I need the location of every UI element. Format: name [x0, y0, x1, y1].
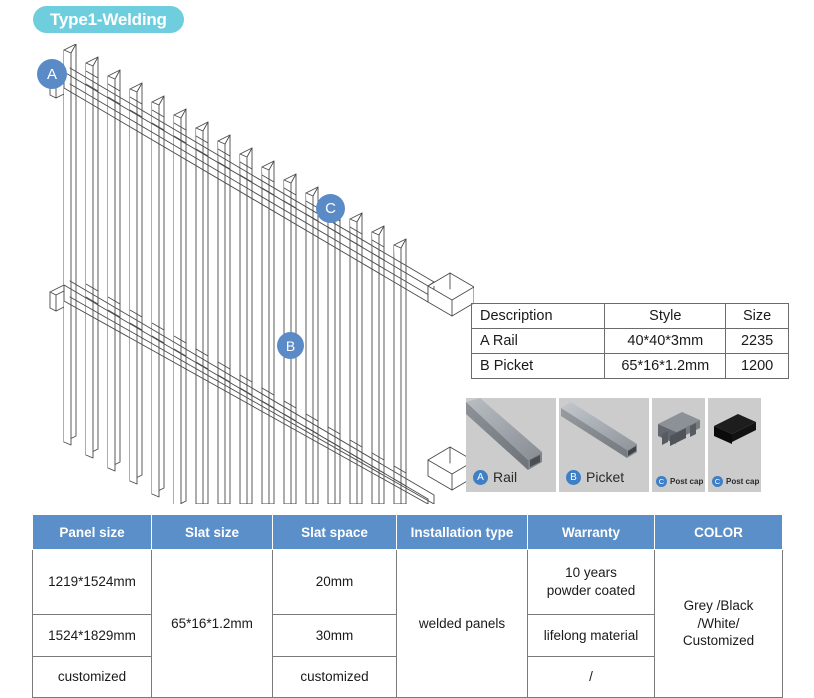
- spec-header-description: Description: [472, 304, 605, 329]
- spec-cell-style: 65*16*1.2mm: [605, 354, 726, 379]
- cell-warranty-3: /: [528, 657, 655, 698]
- thumbnail-post-cap-grey: C Post cap: [652, 398, 705, 492]
- col-header-slat-space: Slat space: [273, 515, 397, 550]
- rail-end-top: [428, 273, 474, 316]
- picket-9: [240, 148, 252, 504]
- col-header-installation-type: Installation type: [397, 515, 528, 550]
- fence-panel-isometric-svg: [24, 44, 474, 504]
- callout-badge-c: C: [316, 194, 345, 223]
- picket-12: [306, 187, 318, 504]
- thumbnail-label: Post cap: [726, 477, 759, 486]
- cell-slat-space-3: customized: [273, 657, 397, 698]
- picket-4: [130, 83, 142, 484]
- picket-3: [108, 70, 120, 471]
- page-title: Type1-Welding: [33, 6, 184, 33]
- fence-panel-diagram: [24, 44, 474, 504]
- cell-panel-size-3: customized: [33, 657, 152, 698]
- mini-badge-c: C: [712, 476, 723, 487]
- thumbnail-label: Picket: [586, 469, 624, 485]
- mini-badge-c: C: [656, 476, 667, 487]
- thumbnail-label: Post cap: [670, 477, 703, 486]
- picket-5: [152, 96, 164, 497]
- product-options-table: Panel size Slat size Slat space Installa…: [32, 514, 783, 698]
- col-header-warranty: Warranty: [528, 515, 655, 550]
- spec-cell-size: 2235: [726, 329, 789, 354]
- thumbnail-picket: B Picket: [559, 398, 649, 492]
- spec-header-style: Style: [605, 304, 726, 329]
- cell-installation-type: welded panels: [397, 550, 528, 698]
- component-photo-strip: A Rail B Picket: [466, 398, 791, 492]
- spec-cell-style: 40*40*3mm: [605, 329, 726, 354]
- callout-badge-b: B: [277, 332, 304, 359]
- col-header-panel-size: Panel size: [33, 515, 152, 550]
- picket-13: [328, 200, 340, 504]
- picket-8: [218, 135, 230, 504]
- options-header-row: Panel size Slat size Slat space Installa…: [33, 515, 783, 550]
- picket-1: [64, 44, 76, 445]
- cell-slat-space-2: 30mm: [273, 615, 397, 657]
- cell-slat-size: 65*16*1.2mm: [152, 550, 273, 698]
- picket-7: [196, 122, 208, 504]
- picket-14: [350, 213, 362, 504]
- picket-6: [174, 109, 186, 504]
- mini-badge-b: B: [566, 470, 581, 485]
- spec-cell-description: A Rail: [472, 329, 605, 354]
- cell-panel-size-1: 1219*1524mm: [33, 550, 152, 615]
- spec-header-row: Description Style Size: [472, 304, 789, 329]
- callout-badge-a: A: [37, 59, 67, 89]
- picket-10: [262, 161, 274, 504]
- cell-slat-space-1: 20mm: [273, 550, 397, 615]
- picket-16: [394, 239, 406, 504]
- cell-color: Grey /Black /White/ Customized: [655, 550, 783, 698]
- cell-warranty-1: 10 years powder coated: [528, 550, 655, 615]
- cell-warranty-2: lifelong material: [528, 615, 655, 657]
- spec-row-picket: B Picket 65*16*1.2mm 1200: [472, 354, 789, 379]
- cell-panel-size-2: 1524*1829mm: [33, 615, 152, 657]
- thumbnail-caption: B Picket: [566, 469, 624, 485]
- thumbnail-rail: A Rail: [466, 398, 556, 492]
- spec-header-size: Size: [726, 304, 789, 329]
- spec-row-rail: A Rail 40*40*3mm 2235: [472, 329, 789, 354]
- thumbnail-caption: A Rail: [473, 469, 517, 485]
- thumbnail-caption: C Post cap: [712, 476, 759, 487]
- mini-badge-a: A: [473, 470, 488, 485]
- picket-2: [86, 57, 98, 458]
- thumbnail-label: Rail: [493, 469, 517, 485]
- options-row-1: 1219*1524mm 65*16*1.2mm 20mm welded pane…: [33, 550, 783, 615]
- thumbnail-post-cap-black: C Post cap: [708, 398, 761, 492]
- col-header-color: COLOR: [655, 515, 783, 550]
- spec-cell-size: 1200: [726, 354, 789, 379]
- spec-cell-description: B Picket: [472, 354, 605, 379]
- col-header-slat-size: Slat size: [152, 515, 273, 550]
- thumbnail-caption: C Post cap: [656, 476, 703, 487]
- component-spec-table: Description Style Size A Rail 40*40*3mm …: [471, 303, 789, 379]
